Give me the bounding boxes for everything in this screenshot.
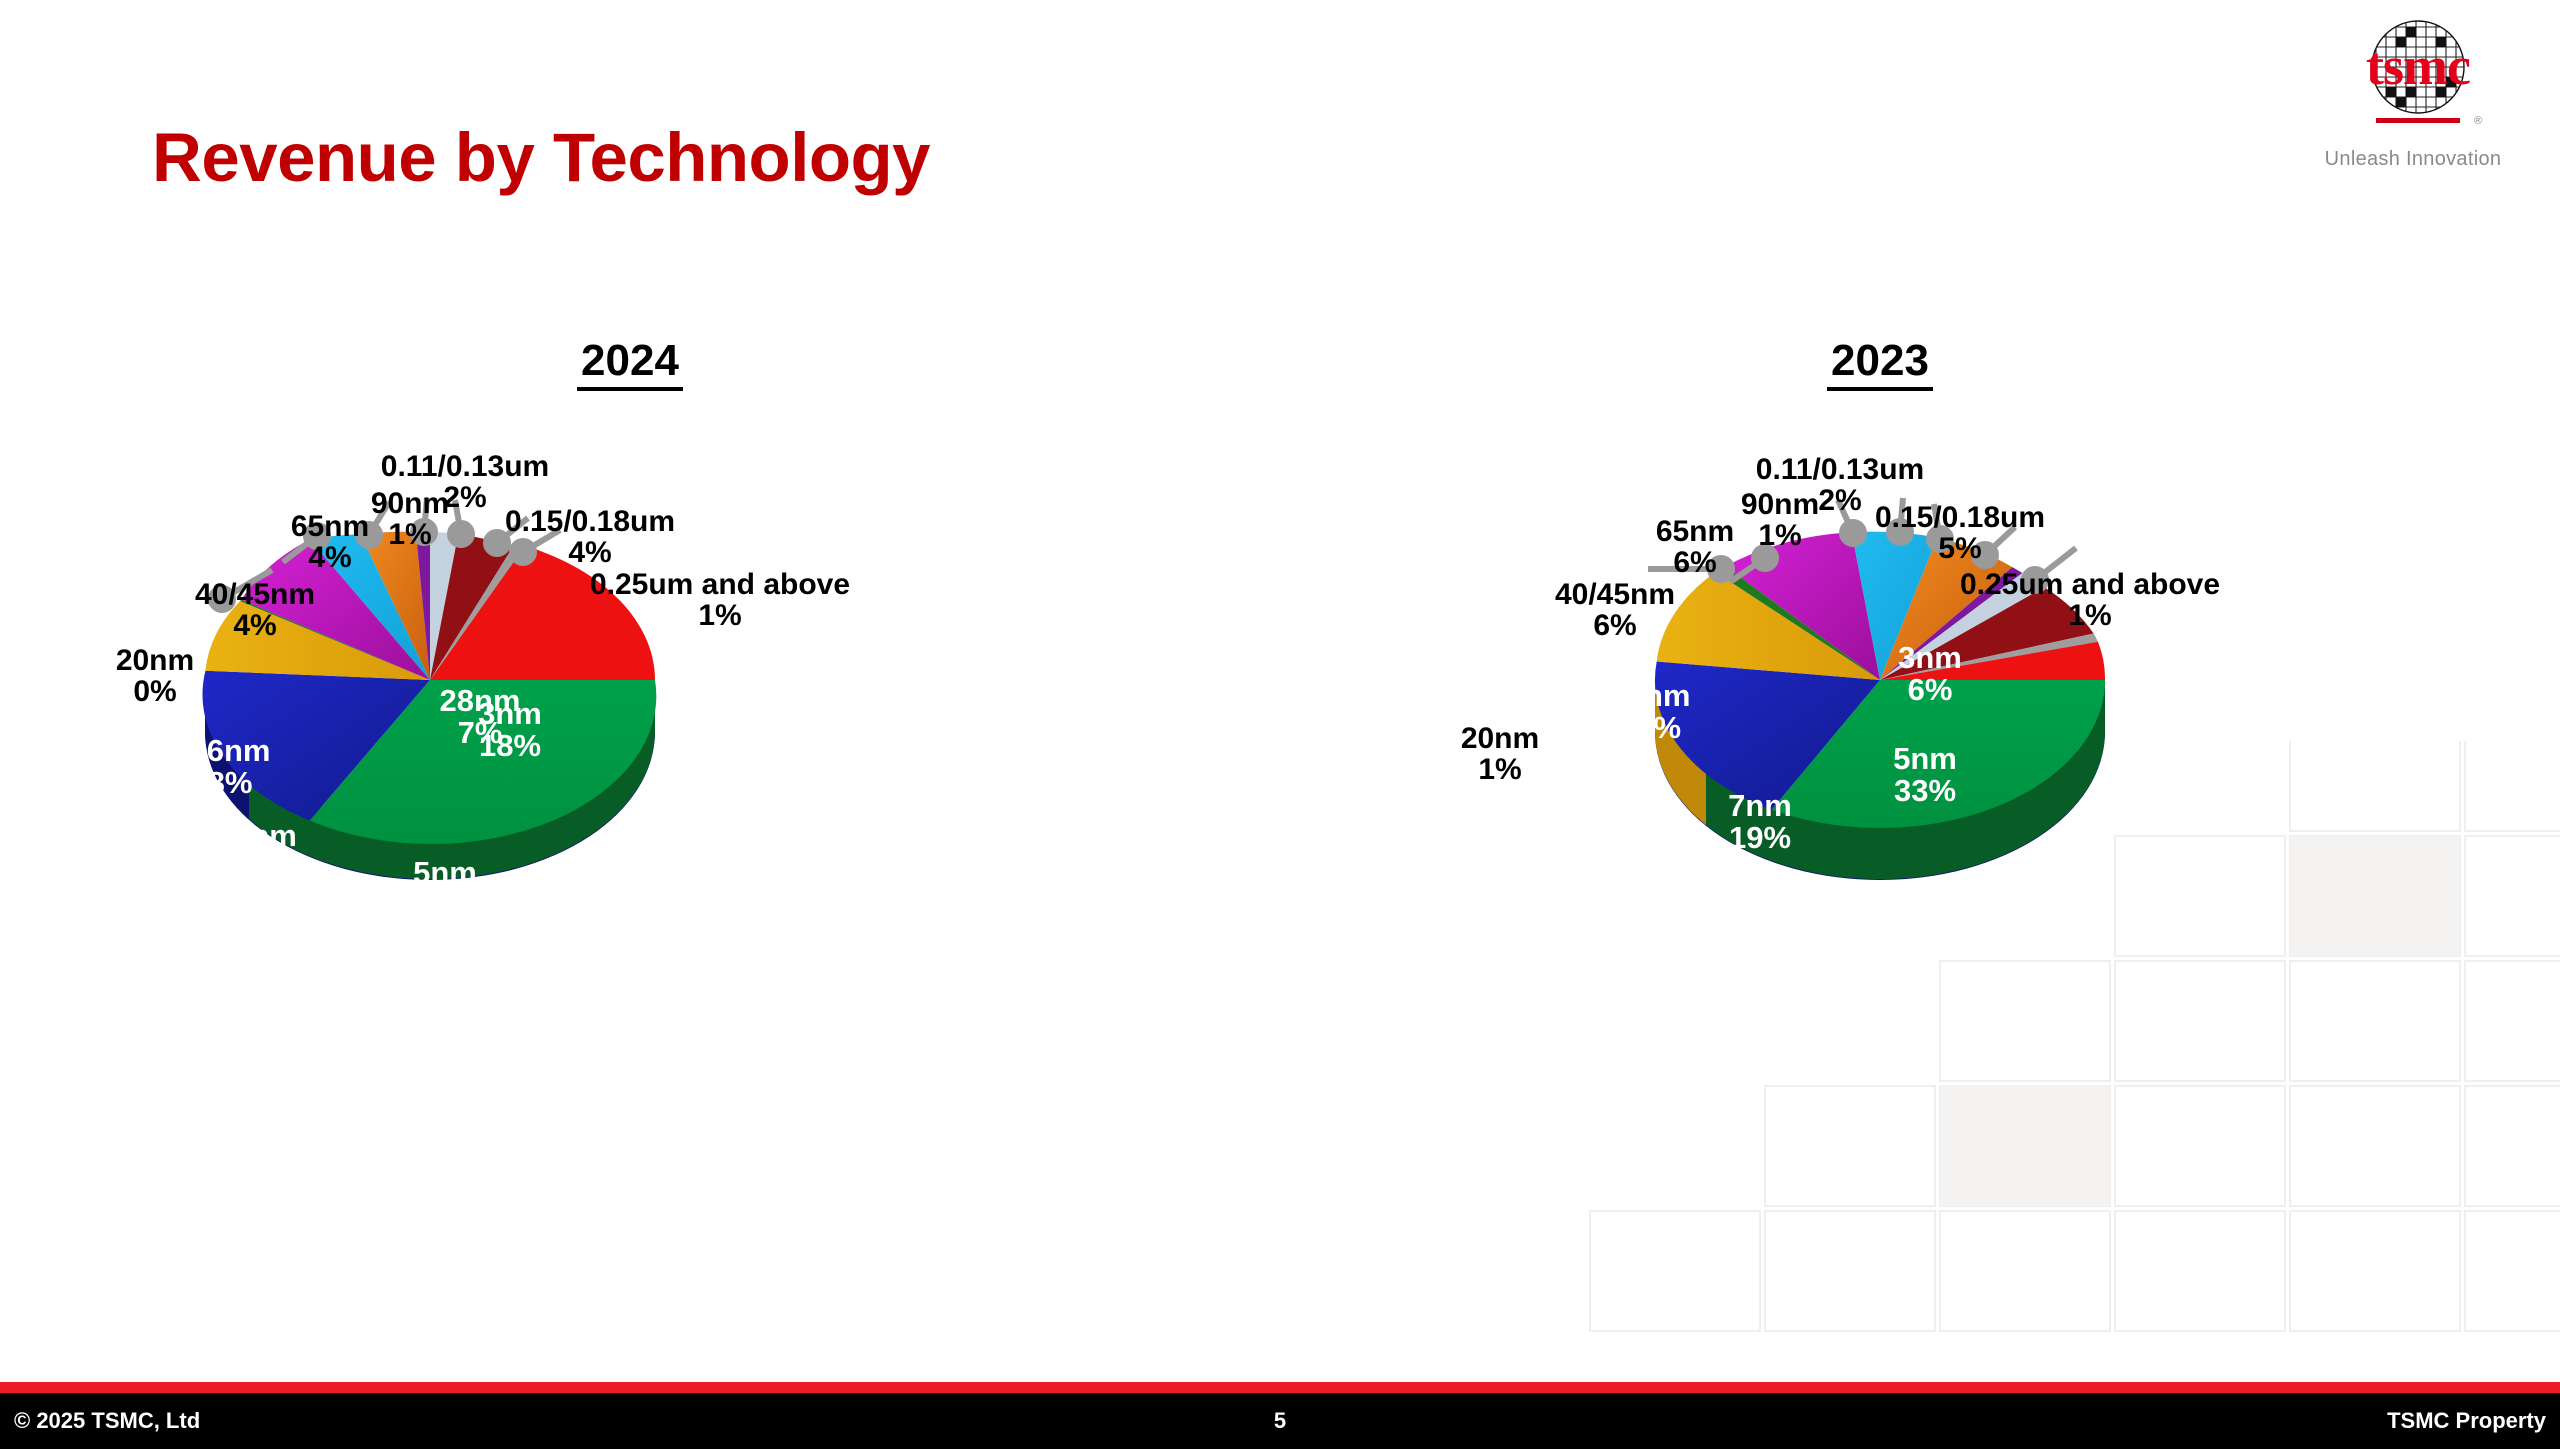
callout-015-018um-2024: 0.15/0.18um 4% xyxy=(440,507,740,568)
callout-20nm-2024: 20nm 0% xyxy=(80,646,230,707)
slice-label-16nm-2024: 16nm 8% xyxy=(140,735,320,798)
pie-chart-2024: 2024 xyxy=(0,0,1270,1160)
slice-label-3nm-2023: 3nm 6% xyxy=(1840,642,2020,705)
callout-025um-above-2023: 0.25um and above 1% xyxy=(1900,570,2280,631)
callout-015-018um-2023: 0.15/0.18um 5% xyxy=(1810,503,2110,564)
pie-chart-2023: 2023 xyxy=(1240,0,2520,1160)
callout-025um-above-2024: 0.25um and above 1% xyxy=(530,570,910,631)
footer-bar: © 2025 TSMC, Ltd 5 TSMC Property xyxy=(0,1393,2560,1449)
slice-label-5nm-2024: 5nm 34% xyxy=(355,857,535,920)
footer-page-number: 5 xyxy=(0,1408,2560,1434)
callout-40-45nm-2024: 40/45nm 4% xyxy=(140,580,370,641)
slice-label-7nm-2023: 7nm 19% xyxy=(1670,790,1850,853)
slice-label-5nm-2023: 5nm 33% xyxy=(1835,743,2015,806)
chart-title-2024: 2024 xyxy=(0,336,1270,386)
slice-label-3nm-2024: 3nm 18% xyxy=(420,698,600,761)
footer-property-notice: TSMC Property xyxy=(2387,1408,2546,1434)
slice-label-28nm-2023: 28nm 10% xyxy=(1560,680,1740,743)
footer-accent-rule xyxy=(0,1382,2560,1393)
callout-011-013um-2024: 0.11/0.13um 2% xyxy=(320,452,610,513)
chart-title-2023: 2023 xyxy=(1240,336,2520,386)
slice-label-7nm-2024: 7nm 17% xyxy=(175,820,355,883)
callout-40-45nm-2023: 40/45nm 6% xyxy=(1500,580,1730,641)
